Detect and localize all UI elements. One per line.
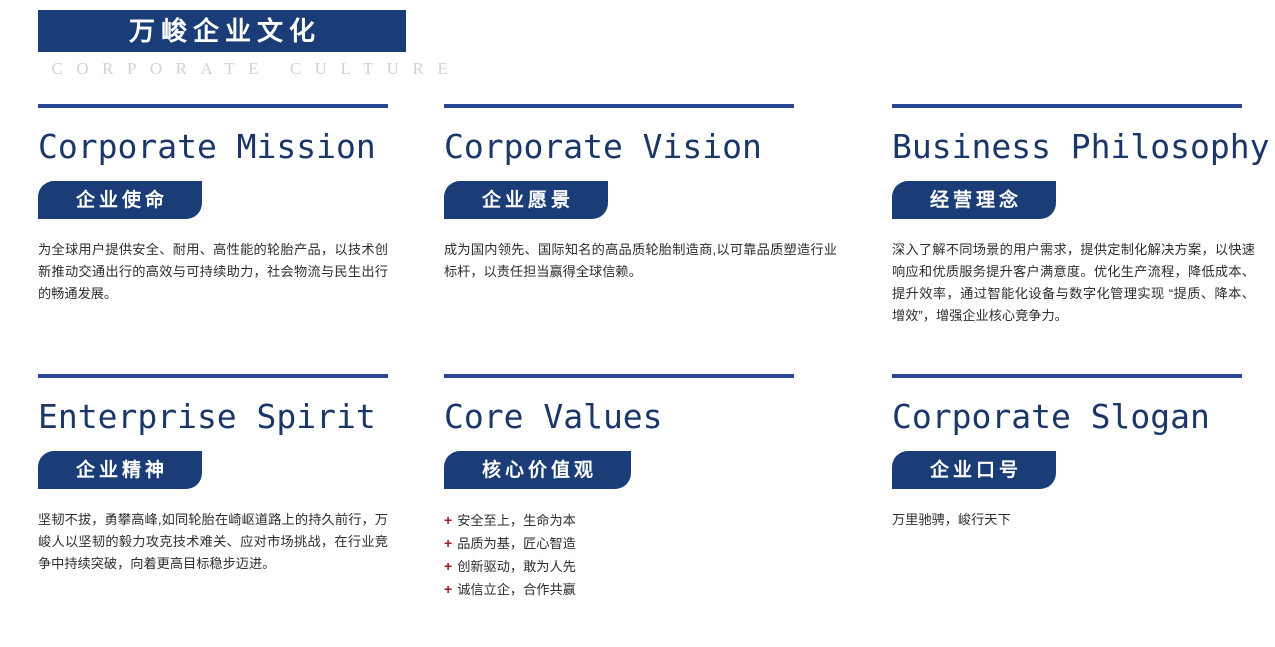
card-badge-label: 企业口号 bbox=[926, 461, 1022, 480]
card-body-text: 坚韧不拔，勇攀高峰,如同轮胎在崎岖道路上的持久前行，万峻人以坚韧的毅力攻克技术难… bbox=[38, 509, 388, 575]
card-enterprise-spirit: Enterprise Spirit 企业精神 坚韧不拔，勇攀高峰,如同轮胎在崎岖… bbox=[0, 374, 422, 575]
card-title-en: Business Philosophy bbox=[892, 130, 1255, 163]
list-item-label: 品质为基，匠心智造 bbox=[457, 533, 576, 555]
card-title-en: Core Values bbox=[444, 400, 837, 433]
card-corporate-vision: Corporate Vision 企业愿景 成为国内领先、国际知名的高品质轮胎制… bbox=[422, 104, 867, 283]
card-top-rule bbox=[38, 104, 388, 108]
card-title-en: Corporate Vision bbox=[444, 130, 837, 163]
card-body-text: 成为国内领先、国际知名的高品质轮胎制造商,以可靠品质塑造行业标杆，以责任担当赢得… bbox=[444, 239, 837, 283]
card-row-top: Corporate Mission 企业使命 为全球用户提供安全、耐用、高性能的… bbox=[0, 104, 1275, 327]
card-badge: 企业愿景 bbox=[444, 181, 608, 219]
card-badge: 企业精神 bbox=[38, 451, 202, 489]
card-top-rule bbox=[444, 374, 794, 378]
plus-icon: + bbox=[444, 532, 452, 554]
card-top-rule bbox=[892, 104, 1242, 108]
card-corporate-slogan: Corporate Slogan 企业口号 万里驰骋，峻行天下 bbox=[867, 374, 1275, 531]
culture-card-grid: Corporate Mission 企业使命 为全球用户提供安全、耐用、高性能的… bbox=[0, 104, 1275, 617]
header-banner: 万峻企业文化 bbox=[38, 10, 406, 52]
card-title-en: Corporate Mission bbox=[38, 130, 388, 163]
plus-icon: + bbox=[444, 555, 452, 577]
list-item-label: 创新驱动，敢为人先 bbox=[457, 556, 576, 578]
card-body-text: 万里驰骋，峻行天下 bbox=[892, 509, 1255, 531]
list-item: + 创新驱动，敢为人先 bbox=[444, 555, 837, 578]
card-body-text: 为全球用户提供安全、耐用、高性能的轮胎产品，以技术创新推动交通出行的高效与可持续… bbox=[38, 239, 388, 305]
card-body-text: 深入了解不同场景的用户需求，提供定制化解决方案，以快速响应和优质服务提升客户满意… bbox=[892, 239, 1255, 327]
card-badge-label: 企业愿景 bbox=[478, 191, 574, 210]
card-top-rule bbox=[38, 374, 388, 378]
list-item: + 品质为基，匠心智造 bbox=[444, 532, 837, 555]
card-corporate-mission: Corporate Mission 企业使命 为全球用户提供安全、耐用、高性能的… bbox=[0, 104, 422, 305]
page-title: 万峻企业文化 bbox=[123, 18, 321, 44]
card-badge-label: 经营理念 bbox=[926, 191, 1022, 210]
card-top-rule bbox=[444, 104, 794, 108]
card-badge: 企业口号 bbox=[892, 451, 1056, 489]
card-row-bottom: Enterprise Spirit 企业精神 坚韧不拔，勇攀高峰,如同轮胎在崎岖… bbox=[0, 374, 1275, 617]
list-item-label: 诚信立企，合作共赢 bbox=[457, 579, 576, 601]
list-item: + 诚信立企，合作共赢 bbox=[444, 578, 837, 601]
card-badge: 经营理念 bbox=[892, 181, 1056, 219]
card-title-en: Corporate Slogan bbox=[892, 400, 1255, 433]
card-core-values: Core Values 核心价值观 + 安全至上，生命为本 + 品质为基，匠心智… bbox=[422, 374, 867, 617]
list-item-label: 安全至上，生命为本 bbox=[457, 510, 576, 532]
plus-icon: + bbox=[444, 578, 452, 600]
card-badge-label: 企业精神 bbox=[72, 461, 168, 480]
card-title-en: Enterprise Spirit bbox=[38, 400, 388, 433]
page-subtitle: CORPORATE CULTURE bbox=[38, 60, 406, 77]
page-header: 万峻企业文化 CORPORATE CULTURE bbox=[38, 10, 406, 77]
card-badge: 企业使命 bbox=[38, 181, 202, 219]
card-business-philosophy: Business Philosophy 经营理念 深入了解不同场景的用户需求，提… bbox=[867, 104, 1275, 327]
card-badge-label: 核心价值观 bbox=[478, 461, 597, 480]
card-badge-label: 企业使命 bbox=[72, 191, 168, 210]
card-badge: 核心价值观 bbox=[444, 451, 631, 489]
list-item: + 安全至上，生命为本 bbox=[444, 509, 837, 532]
plus-icon: + bbox=[444, 509, 452, 531]
card-top-rule bbox=[892, 374, 1242, 378]
core-values-list: + 安全至上，生命为本 + 品质为基，匠心智造 + 创新驱动，敢为人先 + 诚信… bbox=[444, 509, 837, 601]
